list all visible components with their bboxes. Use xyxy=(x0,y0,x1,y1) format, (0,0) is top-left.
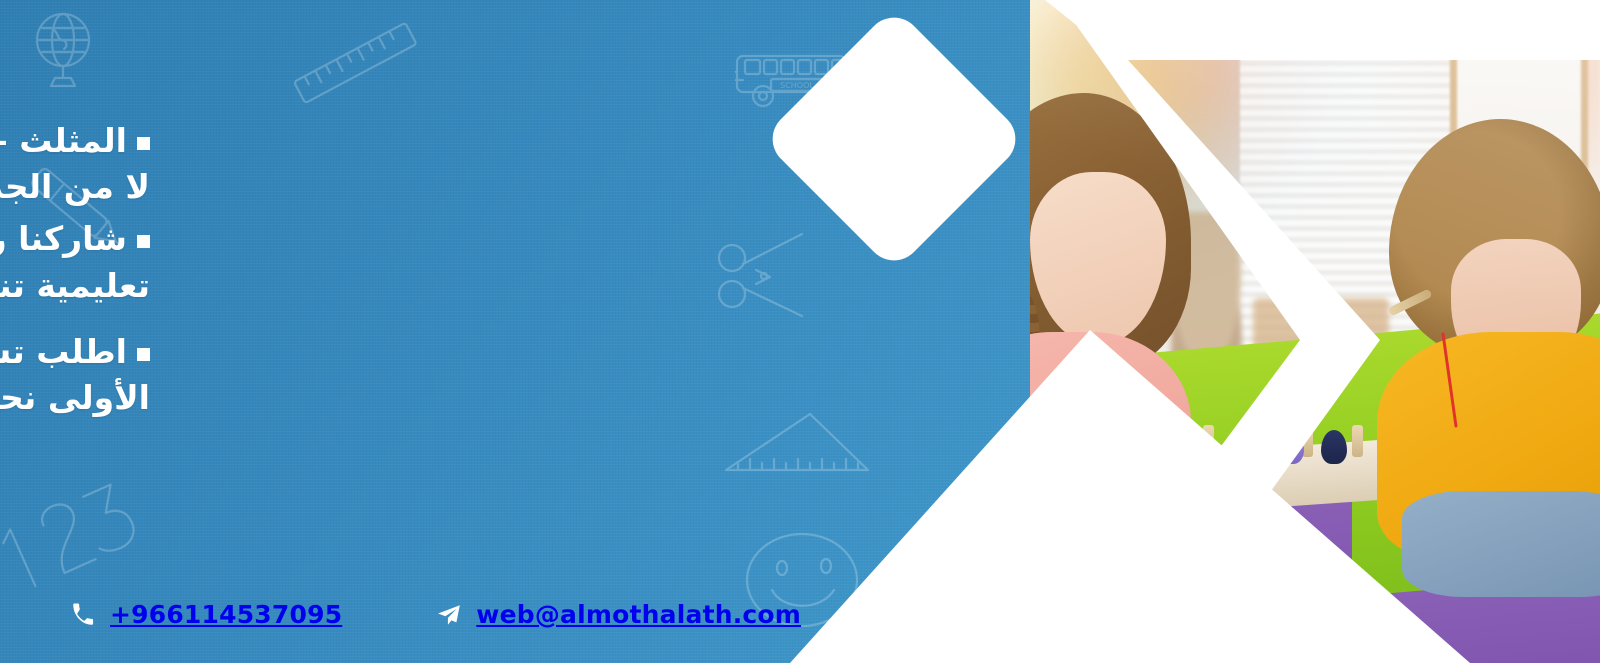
email-contact[interactable]: web@almothalath.com xyxy=(436,600,801,629)
email-address: web@almothalath.com xyxy=(476,600,801,629)
bullet-line-2: شاركنا رؤيتك، ودعنا نحوها إلى بيئة تعليم… xyxy=(0,216,150,308)
phone-contact[interactable]: +966114537095 xyxy=(70,600,342,629)
bullet-text-2: شاركنا رؤيتك، ودعنا نحوها إلى بيئة تعليم… xyxy=(0,219,150,304)
bullet-line-1: المثلث — حيث يبدأ التعليم من التفاصيل، ل… xyxy=(0,118,150,210)
triangle-ruler-doodle xyxy=(718,406,878,491)
numbers-123-doodle xyxy=(0,455,160,605)
toy-fish-red xyxy=(1234,423,1260,457)
toy-fish-navy xyxy=(1321,430,1347,464)
paper-plane-icon xyxy=(436,602,462,628)
classroom-photo xyxy=(980,0,1600,663)
boy-jeans xyxy=(1402,491,1600,597)
bus-label: SCHOOL xyxy=(780,81,814,90)
panel-texture xyxy=(0,0,1030,663)
phone-number: +966114537095 xyxy=(110,600,342,629)
phone-icon xyxy=(70,602,96,628)
bullet-marker-3 xyxy=(137,348,150,361)
ruler-doodle xyxy=(278,8,428,118)
bullet-text-3: اطلب تسعيرتك الآن، وابدأ بخطوتك الأولى ن… xyxy=(0,332,150,417)
marketing-copy: المثلث — حيث يبدأ التعليم من التفاصيل، ل… xyxy=(0,118,150,427)
scissors-doodle xyxy=(706,218,816,328)
bullet-text-1: المثلث — حيث يبدأ التعليم من التفاصيل، ل… xyxy=(0,121,150,206)
promo-banner: SCHOOL xyxy=(0,0,1600,663)
blue-panel: SCHOOL xyxy=(0,0,1030,663)
bullet-line-3: اطلب تسعيرتك الآن، وابدأ بخطوتك الأولى ن… xyxy=(0,329,150,421)
globe-doodle xyxy=(18,8,108,98)
toy-fish-purple xyxy=(1278,430,1304,464)
bullet-marker-1 xyxy=(137,137,150,150)
bullet-marker-2 xyxy=(137,235,150,248)
contact-bar: +966114537095 web@almothalath.com xyxy=(70,600,801,629)
school-bus-doodle: SCHOOL xyxy=(735,38,855,118)
